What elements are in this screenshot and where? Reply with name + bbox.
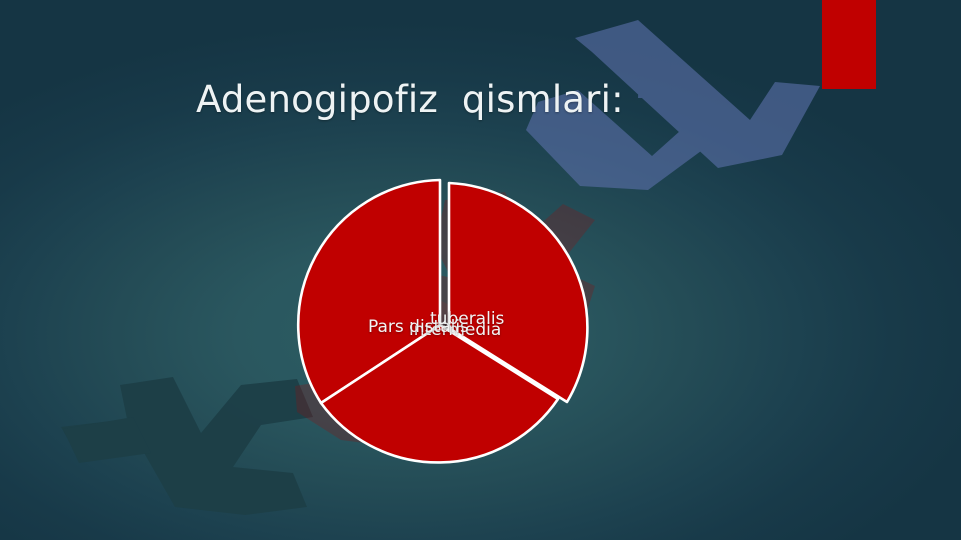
pie-label-tuberalis: tuberalis — [430, 309, 504, 329]
slide-canvas: Adenogipofiz qismlari: intermedia Pars d… — [0, 0, 961, 540]
red-bar-accent — [822, 0, 876, 89]
page-title: Adenogipofiz qismlari: — [196, 79, 624, 122]
pie-chart: intermedia Pars distalis tuberalis — [288, 168, 598, 480]
